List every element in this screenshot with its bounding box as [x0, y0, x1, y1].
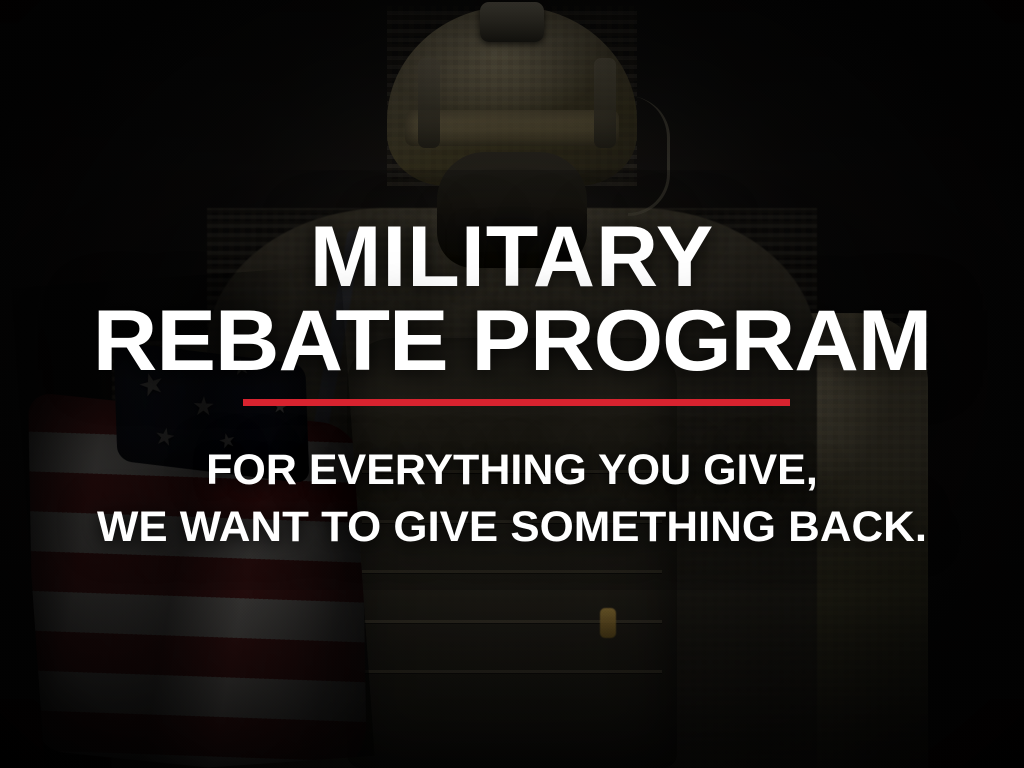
- headline-line-2: REBATE PROGRAM: [0, 300, 1024, 383]
- poster-content: MILITARY REBATE PROGRAM FOR EVERYTHING Y…: [0, 0, 1024, 768]
- headline-line-1: MILITARY: [0, 216, 1024, 299]
- poster-canvas: ★ ★ ★ ★ ★ ★ MILITARY REBATE PROGRAM FOR …: [0, 0, 1024, 768]
- subhead-line-2: WE WANT TO GIVE SOMETHING BACK.: [0, 506, 1024, 550]
- red-rule-divider: [243, 399, 790, 406]
- subhead-line-1: FOR EVERYTHING YOU GIVE,: [0, 449, 1024, 493]
